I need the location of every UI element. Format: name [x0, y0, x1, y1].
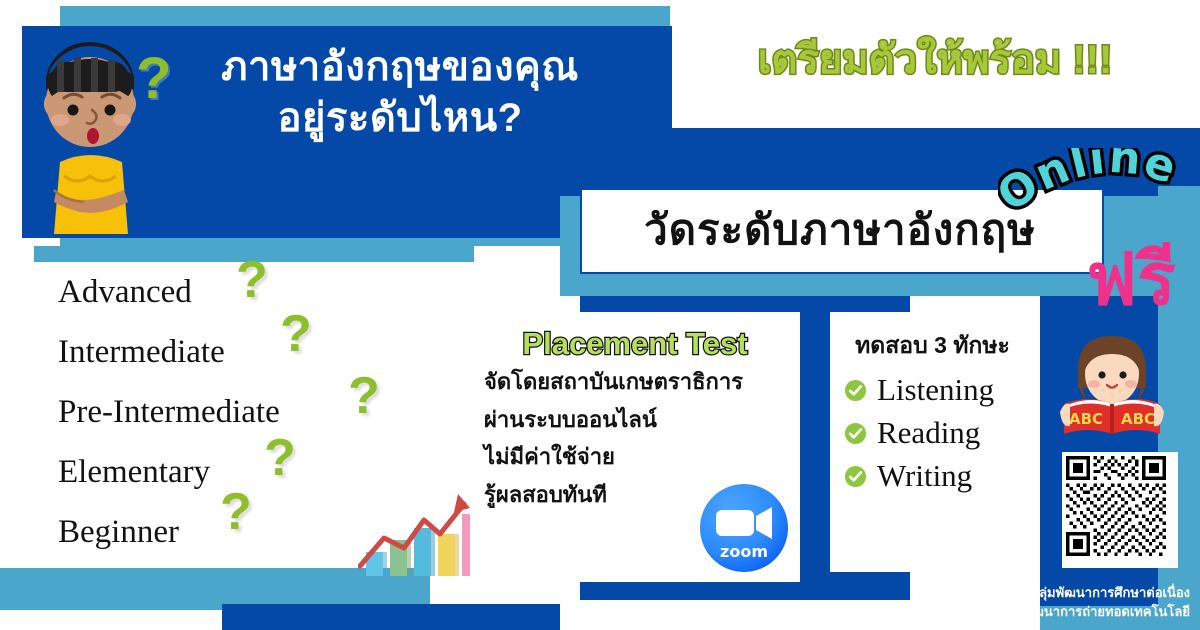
footer-line2: สำนักพัฒนาการถ่ายทอดเทคโนโลยี [992, 603, 1190, 622]
list-item: Advanced ? [58, 268, 488, 328]
book-text-right: ABC [1121, 410, 1155, 428]
skills-title: ทดสอบ 3 ทักษะ [830, 328, 1035, 364]
svg-text:Online: Online [998, 148, 1184, 222]
list-item: Writing [844, 458, 1035, 494]
level-label: Advanced [58, 274, 192, 311]
online-badge-text: Online [998, 148, 1184, 222]
list-item: Listening [844, 372, 1035, 408]
level-label: Beginner [58, 514, 179, 551]
hero-heading: ภาษาอังกฤษของคุณ อยู่ระดับไหน? [150, 42, 650, 144]
skill-label: Reading [877, 415, 980, 451]
placement-test-line: ไม่มีค่าใช้จ่าย [484, 439, 800, 475]
level-question-mark: ? [236, 254, 268, 306]
zoom-logo: zoom [696, 480, 792, 576]
check-circle-icon [844, 465, 867, 488]
hero-heading-line2: อยู่ระดับไหน? [150, 93, 650, 144]
hero-heading-line1: ภาษาอังกฤษของคุณ [150, 42, 650, 93]
placement-test-line: จัดโดยสถาบันเกษตราธิการ [484, 364, 800, 400]
levels-list: Advanced ? Intermediate ? Pre-Intermedia… [58, 268, 488, 568]
poster-canvas: ? ภาษาอังกฤษของคุณ อยู่ระดับไหน? เตรียมต… [0, 0, 1200, 630]
skill-label: Writing [877, 458, 972, 494]
zoom-logo-label: zoom [720, 542, 768, 561]
placement-test-line: ผ่านระบบออนไลน์ [484, 402, 800, 438]
placement-test-title: Placement Test [470, 326, 800, 362]
skills-card: ทดสอบ 3 ทักษะ Listening Reading Writing [830, 312, 1035, 572]
list-item: Intermediate ? [58, 328, 488, 388]
bottom-navy-bar [222, 604, 560, 630]
hero-question-mark: ? [136, 50, 171, 108]
check-circle-icon [844, 379, 867, 402]
girl-reading-abc-book-icon: ABC ABC [1058, 330, 1166, 440]
level-label: Pre-Intermediate [58, 394, 280, 431]
placement-test-card: Placement Test จัดโดยสถาบันเกษตราธิการ ผ… [470, 312, 800, 582]
qr-code-icon[interactable] [1062, 452, 1178, 568]
list-item: Reading [844, 415, 1035, 451]
online-badge-icon: Online [998, 148, 1198, 224]
level-label: Intermediate [58, 334, 225, 371]
level-question-mark: ? [348, 370, 380, 422]
level-question-mark: ? [280, 308, 312, 360]
book-text-left: ABC [1069, 410, 1103, 428]
skill-label: Listening [877, 372, 994, 408]
check-circle-icon [844, 422, 867, 445]
level-label: Elementary [58, 454, 210, 491]
footer-credits: กลุ่มพัฒนาการศึกษาต่อเนื่อง สำนักพัฒนากา… [992, 584, 1190, 622]
footer-line1: กลุ่มพัฒนาการศึกษาต่อเนื่อง [992, 584, 1190, 603]
level-question-mark: ? [264, 432, 296, 484]
level-question-mark: ? [220, 486, 252, 538]
free-badge: ฟรี [1086, 244, 1176, 316]
thinking-boy-icon [30, 42, 150, 238]
prep-headline: เตรียมตัวให้พร้อม !!! [700, 38, 1170, 82]
